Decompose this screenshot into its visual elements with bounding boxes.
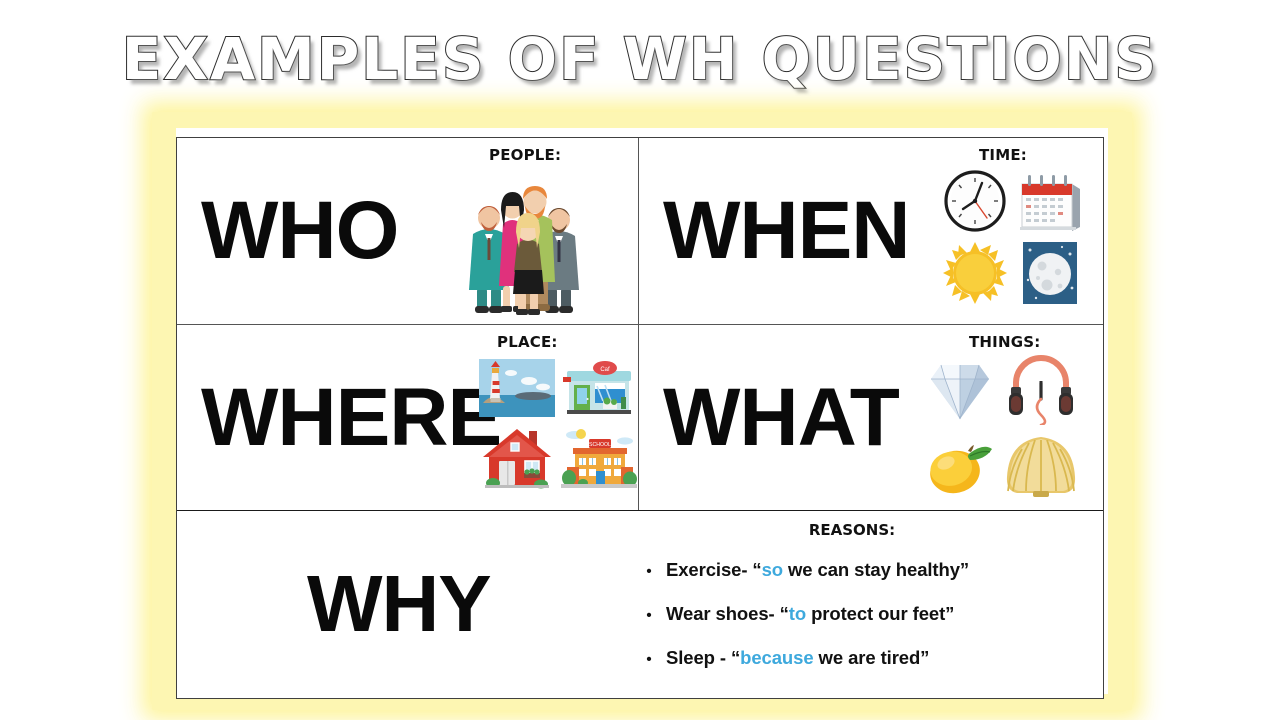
group-of-people-illustration [455, 168, 591, 323]
list-item: • Wear shoes- “to protect our feet” [632, 603, 1072, 625]
wh-word-who: WHO [177, 190, 398, 272]
table-row: WHERE PLACE: [177, 325, 1103, 511]
reasons-block: REASONS: • Exercise- “so we can stay hea… [632, 521, 1072, 691]
wh-word-what: WHAT [639, 377, 899, 459]
shop-icon: Caf [559, 355, 639, 421]
diamond-icon [921, 353, 999, 425]
clock-icon [939, 166, 1011, 236]
wh-word-why: WHY [177, 564, 491, 644]
time-icon-grid [939, 166, 1087, 308]
cell-what[interactable]: WHAT THINGS: [639, 325, 1103, 510]
things-icon-grid [921, 353, 1081, 499]
highlight-word-to: to [789, 603, 806, 624]
bullet-marker: • [632, 652, 666, 667]
reason-text-3: Sleep - “because we are tired” [666, 647, 929, 669]
wh-word-when: WHEN [639, 190, 910, 272]
bullet-marker: • [632, 564, 666, 579]
label-reasons: REASONS: [632, 521, 1072, 539]
school-icon: SCHOOL [559, 423, 639, 493]
list-item: • Sleep - “because we are tired” [632, 647, 1072, 669]
svg-text:SCHOOL: SCHOOL [589, 442, 611, 448]
lighthouse-icon [477, 355, 557, 421]
sun-icon [939, 238, 1011, 308]
label-place: PLACE: [497, 333, 558, 351]
svg-text:Caf: Caf [600, 367, 610, 373]
headphones-icon [1002, 353, 1080, 425]
label-things: THINGS: [969, 333, 1040, 351]
house-icon [477, 423, 557, 493]
cell-when[interactable]: WHEN TIME: [639, 138, 1103, 324]
highlight-word-so: so [762, 559, 783, 580]
reason-text-1: Exercise- “so we can stay healthy” [666, 559, 969, 581]
cell-where[interactable]: WHERE PLACE: [177, 325, 639, 510]
table-row: WHY REASONS: • Exercise- “so we can stay… [177, 511, 1103, 696]
highlight-word-because: because [740, 647, 813, 668]
wh-questions-table: WHO PEOPLE: [176, 137, 1104, 699]
cell-why[interactable]: WHY REASONS: • Exercise- “so we can stay… [177, 511, 1103, 696]
moon-icon [1014, 238, 1086, 308]
reason-text-2: Wear shoes- “to protect our feet” [666, 603, 954, 625]
label-time: TIME: [979, 146, 1027, 164]
wh-word-where: WHERE [177, 377, 501, 459]
table-row: WHO PEOPLE: [177, 138, 1103, 325]
page-title: EXAMPLES OF WH QUESTIONS [0, 30, 1280, 88]
list-item: • Exercise- “so we can stay healthy” [632, 559, 1072, 581]
bullet-marker: • [632, 608, 666, 623]
cell-who[interactable]: WHO PEOPLE: [177, 138, 639, 324]
place-icon-grid: Caf [477, 355, 639, 493]
label-people: PEOPLE: [489, 146, 561, 164]
lemon-icon [921, 427, 999, 499]
seashell-icon [1002, 427, 1080, 499]
calendar-icon [1014, 166, 1086, 236]
